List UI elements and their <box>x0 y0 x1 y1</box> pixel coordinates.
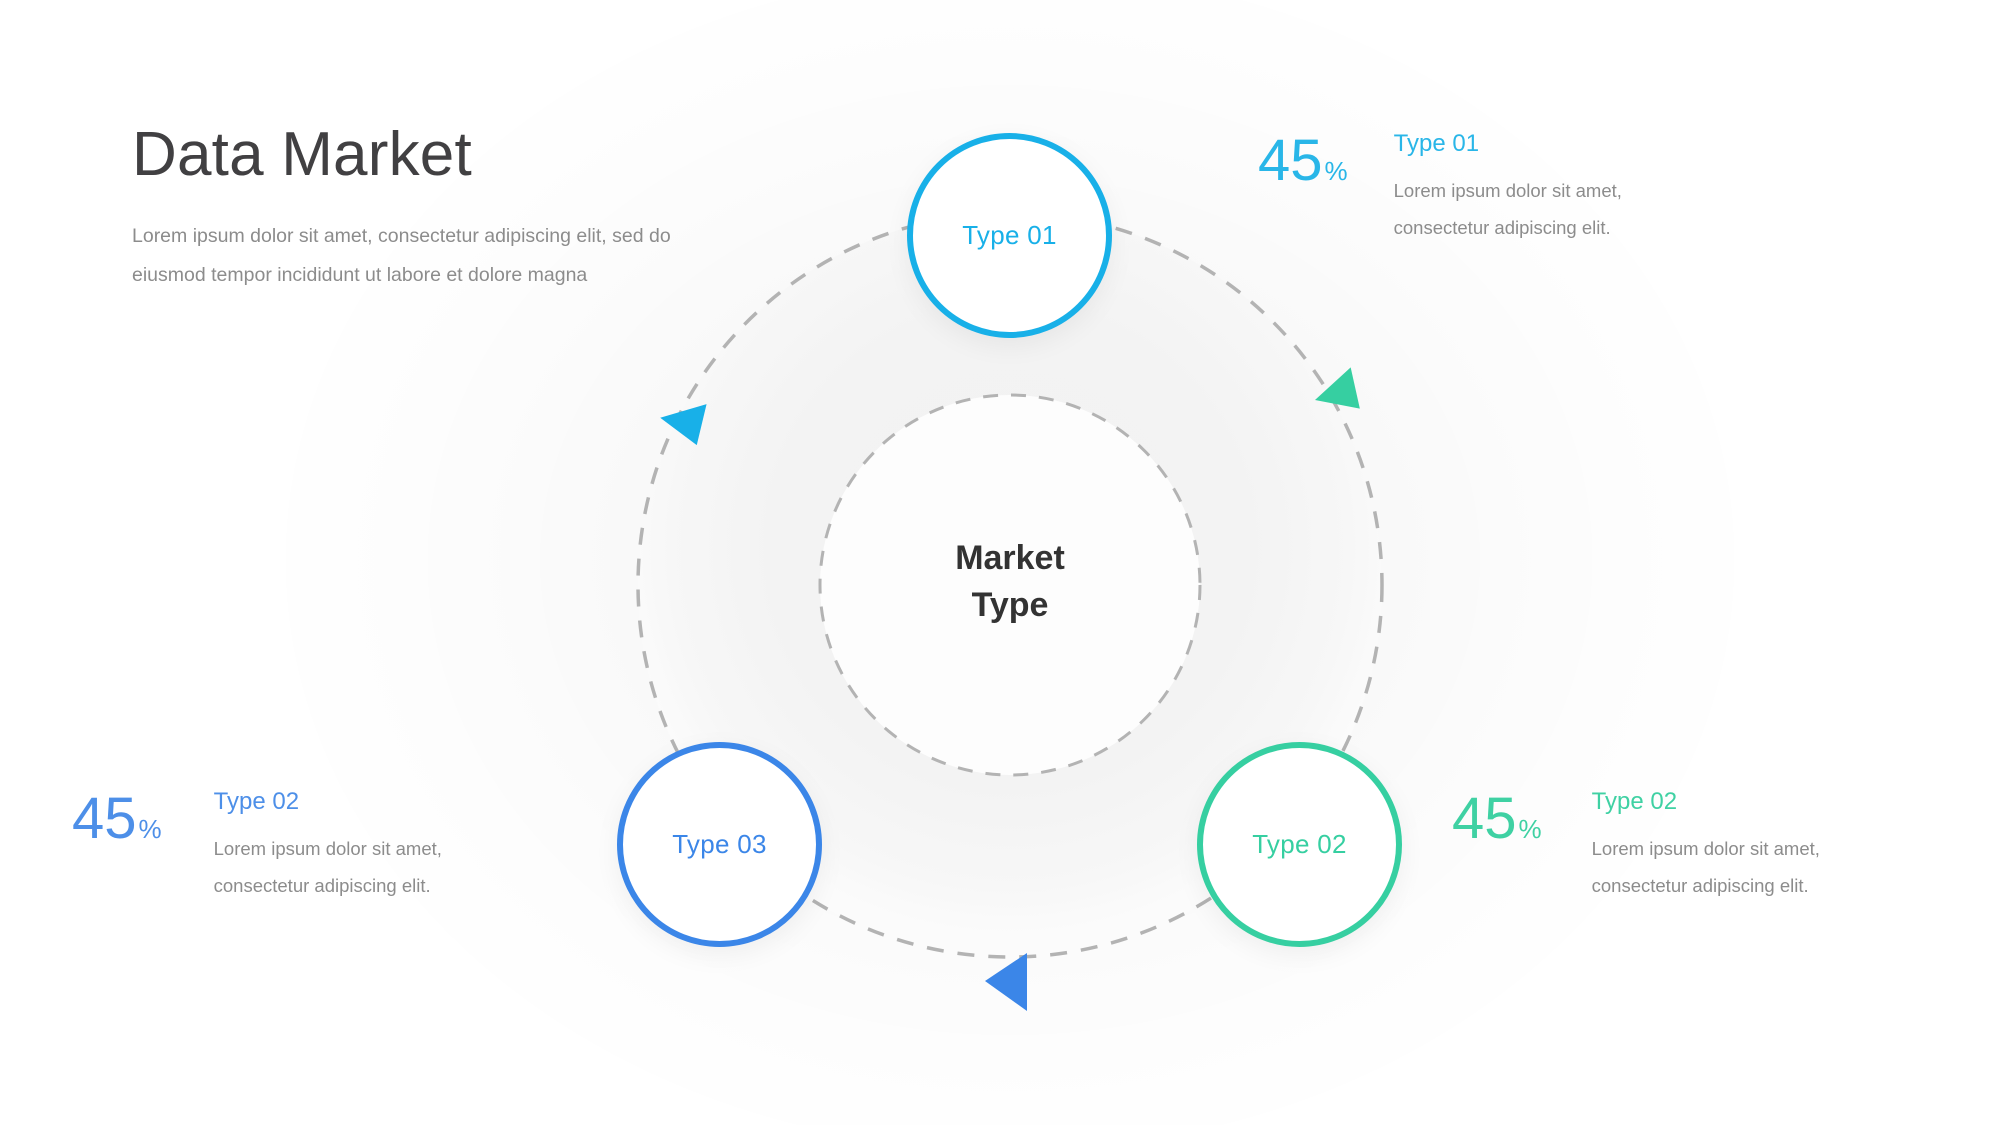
legend-body-line1-bottom-right: Lorem ipsum dolor sit amet, <box>1592 830 1820 867</box>
arrow-marker-blue <box>985 953 1027 1011</box>
legend-text-bottom-left: Type 02 Lorem ipsum dolor sit amet, cons… <box>214 790 442 904</box>
node-circle-type02[interactable]: Type 02 <box>1197 742 1402 947</box>
legend-percent-bottom-left: 45 % <box>72 790 162 848</box>
legend-percent-top-right: 45 % <box>1258 132 1348 190</box>
legend-percent-value-bottom-right: 45 <box>1452 790 1517 848</box>
legend-percent-symbol-top-right: % <box>1325 158 1348 184</box>
legend-body-line2-top-right: consectetur adipiscing elit. <box>1394 209 1622 246</box>
legend-percent-value-bottom-left: 45 <box>72 790 137 848</box>
legend-item-bottom-left: 45 % Type 02 Lorem ipsum dolor sit amet,… <box>72 790 442 904</box>
legend-title-top-right: Type 01 <box>1394 132 1622 156</box>
legend-title-bottom-left: Type 02 <box>214 790 442 814</box>
node-label-type01: Type 01 <box>962 220 1057 251</box>
node-circle-type03[interactable]: Type 03 <box>617 742 822 947</box>
page-subtitle: Lorem ipsum dolor sit amet, consectetur … <box>132 217 677 295</box>
center-caption: Market Type <box>810 535 1210 629</box>
node-label-type02: Type 02 <box>1252 829 1347 860</box>
center-caption-line2: Type <box>810 582 1210 629</box>
infographic-canvas: Data Market Lorem ipsum dolor sit amet, … <box>0 0 2000 1125</box>
legend-percent-symbol-bottom-left: % <box>139 816 162 842</box>
legend-body-line1-bottom-left: Lorem ipsum dolor sit amet, <box>214 830 442 867</box>
legend-item-bottom-right: 45 % Type 02 Lorem ipsum dolor sit amet,… <box>1452 790 1820 904</box>
legend-body-line2-bottom-left: consectetur adipiscing elit. <box>214 867 442 904</box>
legend-percent-bottom-right: 45 % <box>1452 790 1542 848</box>
legend-title-bottom-right: Type 02 <box>1592 790 1820 814</box>
node-circle-type01[interactable]: Type 01 <box>907 133 1112 338</box>
page-title: Data Market <box>132 122 692 187</box>
legend-text-top-right: Type 01 Lorem ipsum dolor sit amet, cons… <box>1394 132 1622 246</box>
legend-percent-symbol-bottom-right: % <box>1519 816 1542 842</box>
legend-percent-value-top-right: 45 <box>1258 132 1323 190</box>
legend-body-line1-top-right: Lorem ipsum dolor sit amet, <box>1394 172 1622 209</box>
legend-text-bottom-right: Type 02 Lorem ipsum dolor sit amet, cons… <box>1592 790 1820 904</box>
node-label-type03: Type 03 <box>672 829 767 860</box>
center-caption-line1: Market <box>810 535 1210 582</box>
heading-block: Data Market Lorem ipsum dolor sit amet, … <box>132 122 692 295</box>
legend-item-top-right: 45 % Type 01 Lorem ipsum dolor sit amet,… <box>1258 132 1622 246</box>
legend-body-line2-bottom-right: consectetur adipiscing elit. <box>1592 867 1820 904</box>
